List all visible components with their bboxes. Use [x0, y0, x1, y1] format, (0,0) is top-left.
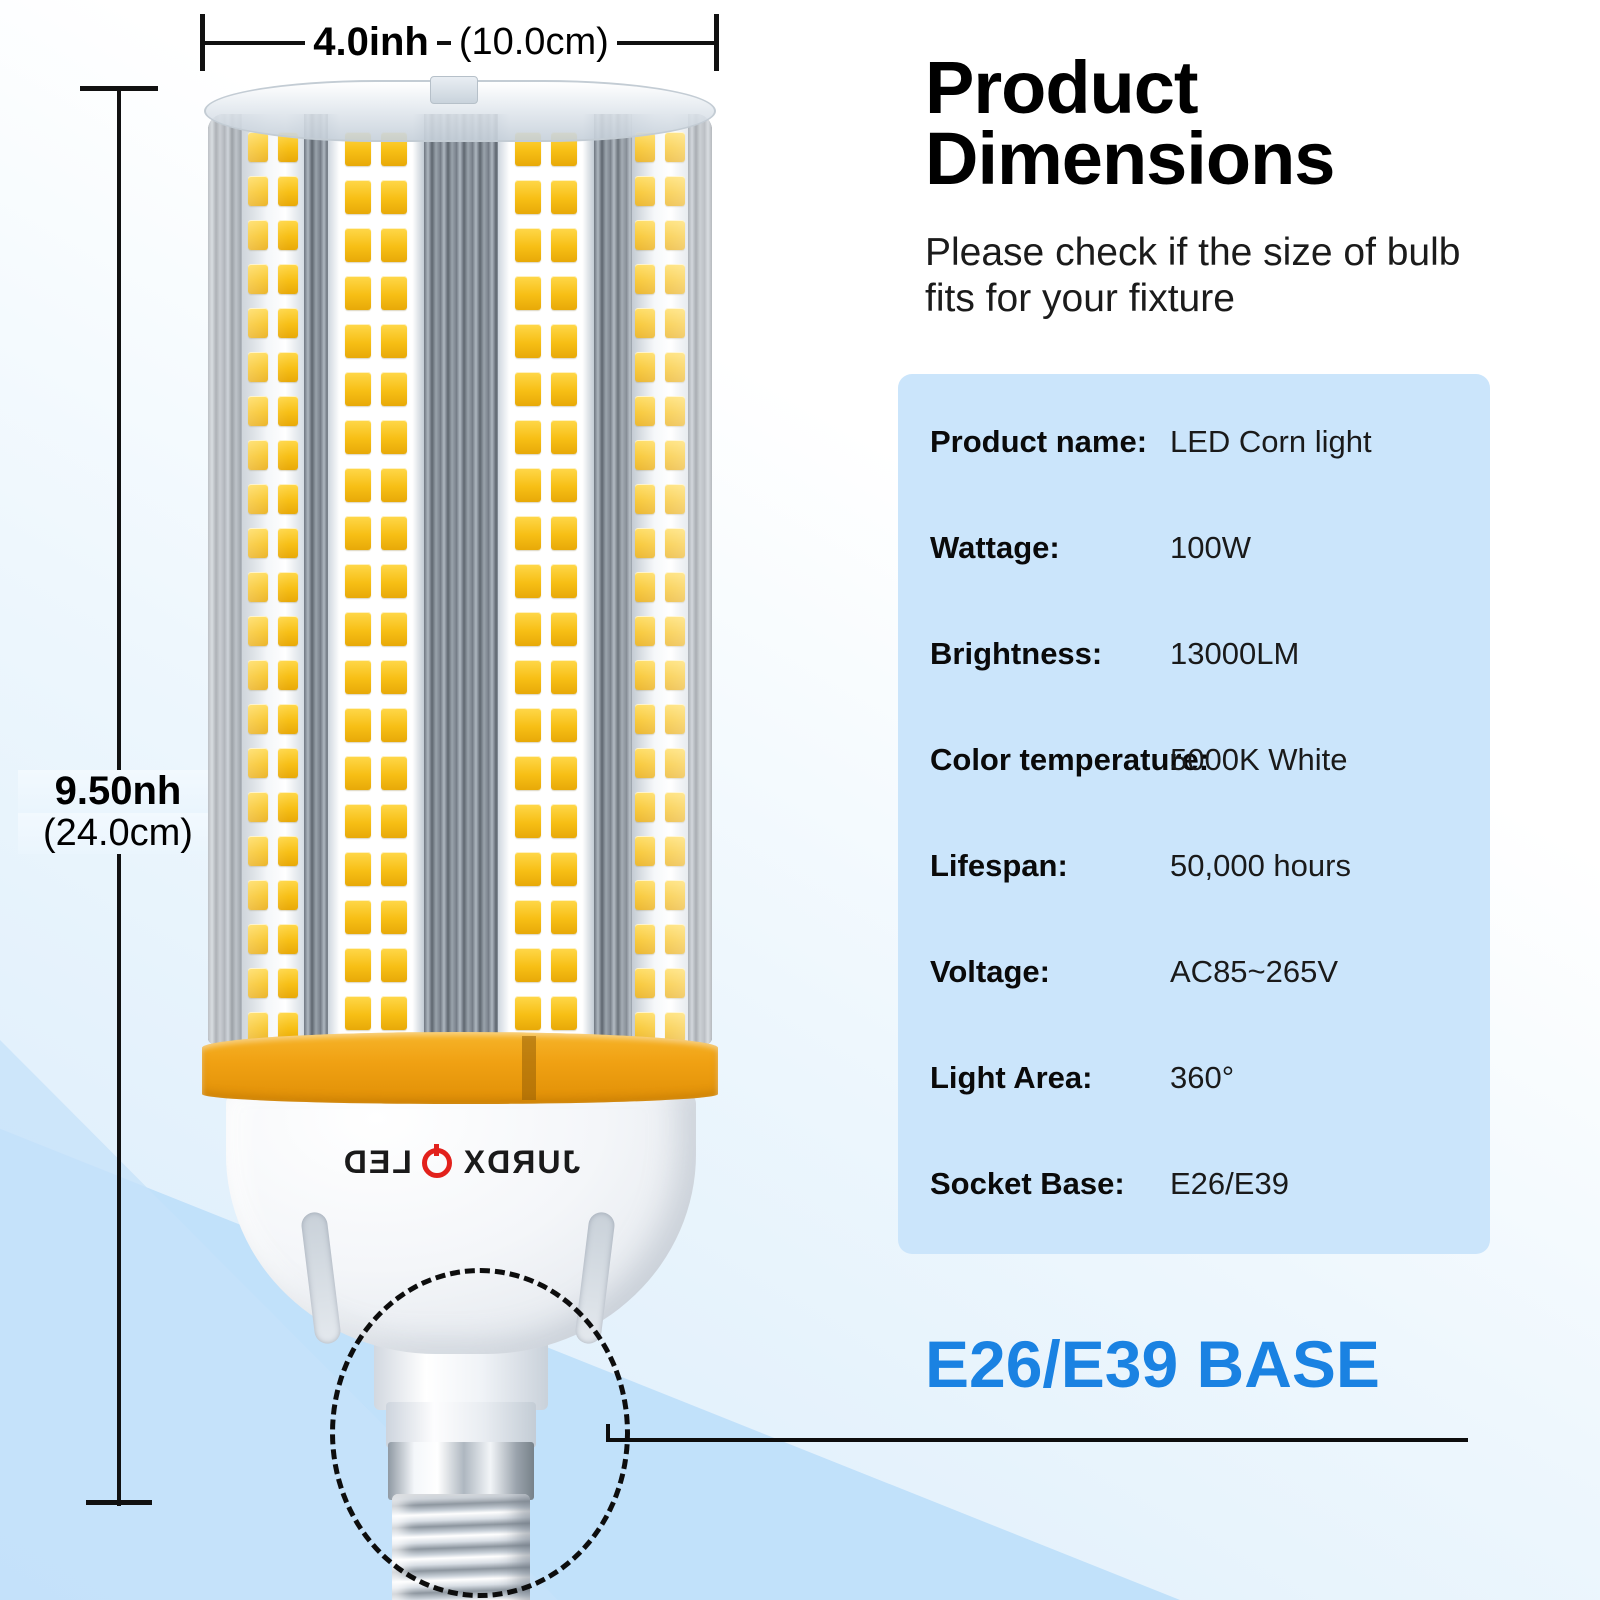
led-chip	[515, 660, 541, 694]
led-chip	[248, 880, 268, 910]
led-chip	[635, 616, 655, 646]
led-chip-row	[345, 996, 407, 1030]
led-chip	[515, 708, 541, 742]
led-chip-row	[515, 324, 577, 358]
height-value-cm: (24.0cm)	[18, 813, 218, 854]
led-chip-row	[635, 440, 685, 470]
width-dimension-label: 4.0inh (10.0cm)	[206, 8, 716, 76]
spec-value: 360°	[1170, 1060, 1234, 1096]
led-chip-row	[635, 792, 685, 822]
led-chip-row	[515, 708, 577, 742]
led-chip-row	[515, 276, 577, 310]
led-chip	[278, 176, 298, 206]
led-chip-row	[515, 948, 577, 982]
led-chip	[515, 948, 541, 982]
led-chip	[248, 220, 268, 250]
led-chip	[381, 756, 407, 790]
width-value-inches: 4.0inh	[305, 22, 437, 62]
led-chip	[345, 180, 371, 214]
led-chip	[248, 440, 268, 470]
led-chip-row	[515, 564, 577, 598]
led-chip	[665, 792, 685, 822]
led-chip	[345, 900, 371, 934]
heatsink-fins	[424, 114, 498, 1044]
spec-row: Wattage:100W	[898, 530, 1490, 566]
led-chip	[635, 660, 655, 690]
title-line-2: Dimensions	[925, 123, 1565, 194]
bulb-led-tube	[208, 114, 712, 1044]
spec-label: Light Area:	[898, 1060, 1170, 1096]
led-chip	[278, 616, 298, 646]
subtitle-line-1: Please check if the size of bulb	[925, 230, 1545, 276]
led-chip	[381, 564, 407, 598]
height-tick-bottom	[86, 1500, 152, 1505]
led-chip	[665, 484, 685, 514]
led-chip	[248, 176, 268, 206]
led-chip-row	[635, 484, 685, 514]
led-chip-row	[248, 572, 298, 602]
led-chip-row	[345, 468, 407, 502]
led-chip-row	[515, 420, 577, 454]
led-chip-row	[248, 352, 298, 382]
led-chip-row	[635, 572, 685, 602]
led-chip-row	[345, 228, 407, 262]
led-chip	[635, 704, 655, 734]
led-chip	[665, 1012, 685, 1042]
led-chip	[278, 352, 298, 382]
led-chip	[345, 420, 371, 454]
led-chip	[278, 396, 298, 426]
led-chip-row	[248, 924, 298, 954]
socket-base-badge: E26/E39 BASE	[925, 1326, 1380, 1402]
led-chip-row	[635, 616, 685, 646]
led-chip	[248, 132, 268, 162]
led-chip	[551, 228, 577, 262]
led-chip	[248, 748, 268, 778]
led-chip	[345, 996, 371, 1030]
led-chip	[551, 804, 577, 838]
led-chip	[551, 612, 577, 646]
led-chip	[665, 308, 685, 338]
led-chip	[551, 708, 577, 742]
led-chip	[665, 924, 685, 954]
led-chip	[635, 572, 655, 602]
led-chip-row	[248, 484, 298, 514]
led-chip	[248, 704, 268, 734]
led-chip	[515, 516, 541, 550]
led-chip	[248, 792, 268, 822]
led-chip	[278, 792, 298, 822]
heatsink-fins	[208, 114, 242, 1044]
spec-label: Wattage:	[898, 530, 1170, 566]
led-chip	[551, 180, 577, 214]
spec-label: Product name:	[898, 424, 1170, 460]
led-chip	[345, 708, 371, 742]
led-strip	[498, 114, 594, 1044]
led-chip	[248, 484, 268, 514]
led-chip	[635, 880, 655, 910]
led-chip	[278, 836, 298, 866]
led-chip	[551, 324, 577, 358]
led-chip-row	[635, 748, 685, 778]
led-chip	[635, 352, 655, 382]
led-chip	[515, 804, 541, 838]
spec-value: 5000K White	[1170, 742, 1348, 778]
led-chip	[345, 756, 371, 790]
led-chip	[665, 264, 685, 294]
led-chip-row	[635, 880, 685, 910]
led-chip	[381, 516, 407, 550]
spec-row: Color temperature:5000K White	[898, 742, 1490, 778]
led-chip-row	[345, 564, 407, 598]
led-chip-row	[248, 704, 298, 734]
spec-value: 100W	[1170, 530, 1251, 566]
led-chip-row	[635, 704, 685, 734]
led-chip	[345, 516, 371, 550]
led-chip	[551, 372, 577, 406]
led-chip	[665, 836, 685, 866]
led-chip	[345, 564, 371, 598]
led-chip	[345, 948, 371, 982]
led-chip	[515, 228, 541, 262]
led-chip	[635, 220, 655, 250]
led-chip-row	[345, 948, 407, 982]
led-chip	[278, 308, 298, 338]
led-chip-row	[345, 756, 407, 790]
led-chip	[248, 836, 268, 866]
led-chip	[635, 528, 655, 558]
led-chip-row	[515, 180, 577, 214]
led-chip	[635, 176, 655, 206]
led-chip	[551, 468, 577, 502]
spec-value: AC85~265V	[1170, 954, 1338, 990]
led-chip	[635, 264, 655, 294]
callout-leader-line	[608, 1438, 1468, 1442]
specifications-panel	[898, 374, 1490, 1254]
led-chip-row	[515, 996, 577, 1030]
led-chip-row	[635, 396, 685, 426]
led-chip	[345, 612, 371, 646]
led-chip	[665, 968, 685, 998]
spec-row: Product name:LED Corn light	[898, 424, 1490, 460]
led-chip	[665, 220, 685, 250]
led-chip	[665, 880, 685, 910]
led-chip-row	[515, 372, 577, 406]
led-chip	[635, 792, 655, 822]
led-chip	[345, 852, 371, 886]
led-chip-row	[515, 900, 577, 934]
led-chip	[381, 420, 407, 454]
led-chip	[665, 440, 685, 470]
led-chip	[551, 420, 577, 454]
height-value-inches: 9.50nh	[18, 770, 218, 813]
led-chip	[248, 968, 268, 998]
bulb-top-cover	[204, 80, 716, 142]
led-chip	[381, 468, 407, 502]
led-chip	[665, 660, 685, 690]
led-chip	[635, 308, 655, 338]
subtitle-line-2: fits for your fixture	[925, 276, 1545, 322]
led-chip	[665, 396, 685, 426]
led-chip-row	[248, 748, 298, 778]
brand-name-left: JURDX	[462, 1144, 580, 1181]
led-chip	[345, 276, 371, 310]
led-chip	[248, 396, 268, 426]
led-chip	[665, 704, 685, 734]
spec-value: 13000LM	[1170, 636, 1299, 672]
led-chip	[665, 132, 685, 162]
led-chip	[381, 228, 407, 262]
led-chip	[278, 264, 298, 294]
led-chip	[665, 616, 685, 646]
spec-row: Brightness:13000LM	[898, 636, 1490, 672]
led-chip	[551, 660, 577, 694]
led-chip	[515, 756, 541, 790]
led-chip	[665, 176, 685, 206]
led-chip	[515, 468, 541, 502]
led-chip-row	[515, 756, 577, 790]
led-chip	[665, 748, 685, 778]
led-chip	[278, 924, 298, 954]
led-chip	[278, 660, 298, 690]
led-chip	[381, 660, 407, 694]
led-chip	[345, 228, 371, 262]
led-chip-row	[515, 852, 577, 886]
led-chip-row	[345, 420, 407, 454]
base-callout-dashed-ellipse	[330, 1268, 630, 1598]
page-subtitle: Please check if the size of bulb fits fo…	[925, 230, 1545, 322]
led-chip	[278, 748, 298, 778]
heatsink-fins	[688, 114, 712, 1044]
led-chip	[278, 528, 298, 558]
led-chip	[635, 924, 655, 954]
led-chip	[515, 372, 541, 406]
led-chip	[278, 880, 298, 910]
led-chip	[515, 324, 541, 358]
led-chip	[635, 836, 655, 866]
led-chip-row	[515, 468, 577, 502]
led-chip	[515, 180, 541, 214]
led-chip	[515, 852, 541, 886]
led-chip-row	[345, 324, 407, 358]
led-chip	[665, 572, 685, 602]
title-line-1: Product	[925, 52, 1565, 123]
brand-logo: JURDX LED	[226, 1144, 696, 1181]
led-chip-row	[635, 220, 685, 250]
spec-label: Voltage:	[898, 954, 1170, 990]
led-chip	[381, 276, 407, 310]
spec-label: Brightness:	[898, 636, 1170, 672]
spec-row: Light Area:360°	[898, 1060, 1490, 1096]
led-chip	[345, 372, 371, 406]
vent-slot	[300, 1211, 342, 1345]
led-chip	[345, 468, 371, 502]
led-chip-row	[345, 180, 407, 214]
led-chip	[635, 968, 655, 998]
led-chip	[248, 264, 268, 294]
led-chip	[248, 572, 268, 602]
led-chip-row	[635, 968, 685, 998]
height-dimension-label: 9.50nh (24.0cm)	[18, 770, 218, 854]
led-chip	[278, 440, 298, 470]
led-strip	[328, 114, 424, 1044]
led-chip-row	[345, 276, 407, 310]
led-chip-row	[248, 308, 298, 338]
spec-label: Color temperature:	[898, 742, 1170, 778]
led-chip	[515, 900, 541, 934]
led-chip	[248, 660, 268, 690]
led-chip-row	[248, 660, 298, 690]
led-chip-row	[248, 792, 298, 822]
led-chip-row	[515, 228, 577, 262]
heatsink-fins	[304, 114, 328, 1044]
infographic-canvas: 4.0inh (10.0cm) 9.50nh (24.0cm)	[0, 0, 1600, 1600]
led-chip	[345, 804, 371, 838]
led-chip-row	[345, 708, 407, 742]
led-chip	[248, 352, 268, 382]
led-chip-row	[635, 660, 685, 690]
width-tick-left	[200, 14, 205, 71]
spec-label: Socket Base:	[898, 1166, 1170, 1202]
led-chip	[278, 704, 298, 734]
led-chip-row	[248, 396, 298, 426]
led-chip-row	[345, 660, 407, 694]
led-chip	[551, 564, 577, 598]
led-chip-row	[345, 372, 407, 406]
led-chip	[551, 900, 577, 934]
led-chip	[381, 996, 407, 1030]
led-chip	[551, 948, 577, 982]
led-chip-row	[635, 528, 685, 558]
led-chip	[515, 612, 541, 646]
led-chip-row	[515, 612, 577, 646]
led-chip-row	[515, 660, 577, 694]
led-chip	[665, 528, 685, 558]
led-strip	[242, 114, 304, 1044]
led-chip-row	[345, 516, 407, 550]
led-chip	[248, 924, 268, 954]
led-chip-row	[248, 440, 298, 470]
page-title: Product Dimensions	[925, 52, 1565, 194]
spec-value: LED Corn light	[1170, 424, 1372, 460]
led-chip-row	[248, 880, 298, 910]
bulb-orange-collar	[202, 1032, 718, 1104]
led-chip	[248, 616, 268, 646]
led-chip	[515, 420, 541, 454]
spec-label: Lifespan:	[898, 848, 1170, 884]
led-strip	[632, 114, 688, 1044]
led-chip-row	[635, 132, 685, 162]
led-chip	[515, 996, 541, 1030]
led-chip	[515, 276, 541, 310]
spec-row: Lifespan:50,000 hours	[898, 848, 1490, 884]
led-chip-row	[345, 900, 407, 934]
led-chip	[381, 180, 407, 214]
led-chip	[381, 372, 407, 406]
led-chip	[551, 852, 577, 886]
led-chip	[278, 572, 298, 602]
spec-row: Socket Base:E26/E39	[898, 1166, 1490, 1202]
spec-row: Voltage:AC85~265V	[898, 954, 1490, 990]
led-chip-row	[248, 836, 298, 866]
led-chip-row	[248, 264, 298, 294]
led-chip-row	[515, 804, 577, 838]
led-chip-row	[635, 352, 685, 382]
led-chip-row	[635, 924, 685, 954]
led-chip-row	[345, 612, 407, 646]
led-chip-row	[635, 264, 685, 294]
led-chip	[278, 484, 298, 514]
led-chip-row	[635, 836, 685, 866]
led-chip	[381, 804, 407, 838]
led-chip	[381, 324, 407, 358]
logo-bulb-icon	[422, 1148, 452, 1178]
led-chip-row	[248, 968, 298, 998]
led-chip	[635, 440, 655, 470]
led-chip-row	[635, 176, 685, 206]
led-chip-row	[248, 176, 298, 206]
heatsink-fins	[594, 114, 632, 1044]
brand-name-right: LED	[342, 1144, 412, 1181]
led-chip	[635, 396, 655, 426]
led-chip	[381, 948, 407, 982]
led-chip	[635, 484, 655, 514]
led-chip	[551, 516, 577, 550]
led-chip	[635, 748, 655, 778]
led-chip-row	[345, 852, 407, 886]
led-chip-row	[248, 528, 298, 558]
led-chip	[551, 276, 577, 310]
led-chip	[278, 968, 298, 998]
spec-value: E26/E39	[1170, 1166, 1289, 1202]
led-chip	[345, 660, 371, 694]
led-chip	[551, 996, 577, 1030]
height-tick-top	[80, 86, 158, 91]
led-chip	[665, 352, 685, 382]
led-chip-row	[345, 804, 407, 838]
led-chip	[278, 220, 298, 250]
spec-value: 50,000 hours	[1170, 848, 1351, 884]
led-chip	[515, 564, 541, 598]
width-value-cm: (10.0cm)	[451, 23, 617, 61]
led-chip	[381, 900, 407, 934]
led-chip-row	[248, 616, 298, 646]
led-chip-row	[515, 516, 577, 550]
led-chip	[381, 708, 407, 742]
led-chip	[381, 852, 407, 886]
led-chip	[345, 324, 371, 358]
led-chip-row	[248, 220, 298, 250]
led-chip	[248, 308, 268, 338]
led-chip	[381, 612, 407, 646]
led-chip-row	[635, 308, 685, 338]
led-chip	[551, 756, 577, 790]
led-chip	[248, 528, 268, 558]
